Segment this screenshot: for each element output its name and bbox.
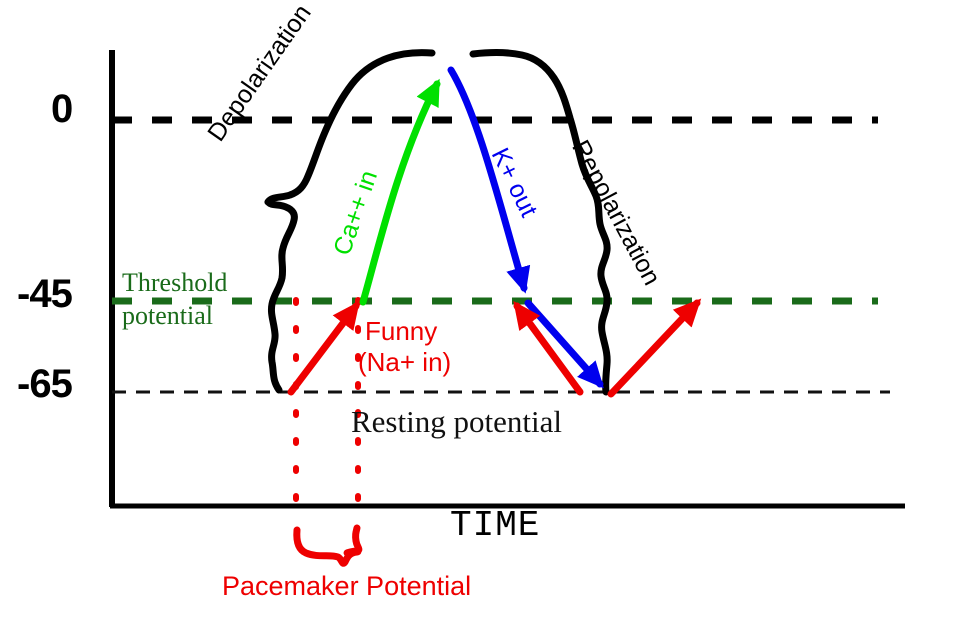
pacemaker-potential-label: Pacemaker Potential bbox=[222, 572, 471, 600]
y-axis-label-zero: 0 bbox=[51, 88, 72, 130]
diagram-canvas: 0 -45 -65 Threshold potential Depolariza… bbox=[0, 0, 960, 620]
funny-current-arrow-right bbox=[611, 303, 697, 394]
funny-current-label-line2: (Na+ in) bbox=[358, 349, 451, 376]
y-axis-label-minus-45: -45 bbox=[17, 273, 72, 315]
y-axis-label-minus-65: -65 bbox=[17, 363, 72, 405]
funny-current-label-line1: Funny bbox=[365, 318, 437, 345]
threshold-potential-label-line2: potential bbox=[122, 303, 213, 329]
threshold-potential-label-line1: Threshold bbox=[122, 270, 227, 296]
time-axis-label: TIME bbox=[450, 507, 540, 545]
pacemaker-potential-brace bbox=[297, 528, 359, 563]
resting-potential-label: Resting potential bbox=[351, 406, 562, 439]
funny-current-arrow-left bbox=[291, 306, 356, 392]
